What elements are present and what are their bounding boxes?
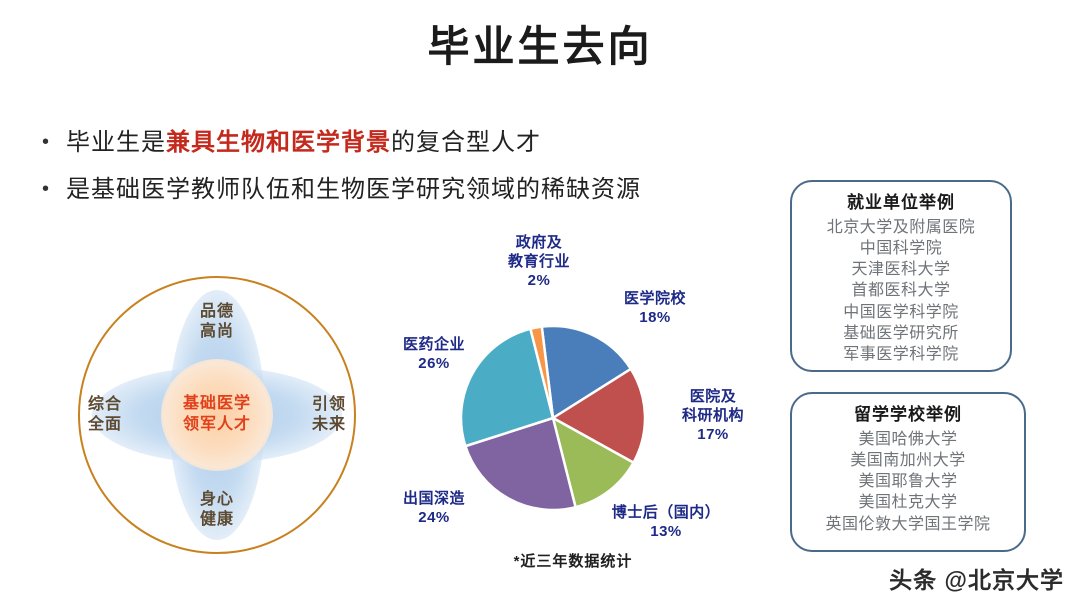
bullet-marker: • [40, 171, 52, 207]
list-item: 美国哈佛大学 [802, 429, 1014, 450]
info-box-title: 就业单位举例 [802, 190, 1000, 216]
pie-chart: 政府及 教育行业 2% 医学院校 18% 医院及 科研机构 17% 博士后（国内… [378, 232, 768, 577]
info-box-employers: 就业单位举例 北京大学及附属医院 中国科学院 天津医科大学 首都医科大学 中国医… [790, 180, 1012, 372]
pie-label-pharma: 医药企业 26% [380, 336, 488, 374]
list-item: • 毕业生是兼具生物和医学背景的复合型人才 [40, 124, 760, 161]
pie-label-percent: 18% [600, 309, 710, 328]
pie-label-postdoc: 博士后（国内） 13% [600, 504, 732, 542]
petal-label-left: 综合 全面 [88, 395, 122, 435]
list-item: 基础医学研究所 [802, 323, 1000, 344]
pie-label-line1: 出国深造 [403, 490, 465, 507]
pie-label-line2: 科研机构 [682, 407, 744, 424]
petal-center-line1: 基础医学 [183, 394, 251, 415]
bullet-text: 是基础医学教师队伍和生物医学研究领域的稀缺资源 [66, 171, 760, 208]
petal-label-right-line2: 未来 [312, 415, 346, 435]
petal-label-top-line1: 品德 [200, 302, 234, 322]
petal-label-bottom: 身心 健康 [200, 490, 234, 530]
petal-label-bottom-line1: 身心 [200, 490, 234, 510]
pie-label-line1: 医院及 [690, 388, 737, 405]
pie-label-percent: 26% [380, 355, 488, 374]
petal-center-line2: 领军人才 [183, 415, 251, 436]
pie-slice-group [461, 326, 645, 510]
bullet-text-post: 的复合型人才 [391, 129, 541, 156]
info-box-overseas-schools: 留学学校举例 美国哈佛大学 美国南加州大学 美国耶鲁大学 美国杜克大学 英国伦敦… [790, 392, 1026, 552]
list-item: 美国杜克大学 [802, 492, 1014, 513]
bullet-text: 毕业生是兼具生物和医学背景的复合型人才 [66, 124, 760, 161]
page-title: 毕业生去向 [0, 22, 1080, 72]
pie-label-line1: 医药企业 [403, 336, 465, 353]
petal-label-bottom-line2: 健康 [200, 510, 234, 530]
pie-label-government: 政府及 教育行业 2% [484, 234, 594, 290]
petal-label-right-line1: 引领 [312, 395, 346, 415]
petal-label-top-line2: 高尚 [200, 322, 234, 342]
list-item: 北京大学及附属医院 [802, 217, 1000, 238]
pie-label-percent: 24% [380, 509, 488, 528]
petal-label-top: 品德 高尚 [200, 302, 234, 342]
bullet-list: • 毕业生是兼具生物和医学背景的复合型人才 • 是基础医学教师队伍和生物医学研究… [40, 124, 760, 218]
list-item: 天津医科大学 [802, 259, 1000, 280]
pie-label-medical-schools: 医学院校 18% [600, 290, 710, 328]
list-item: 首都医科大学 [802, 280, 1000, 301]
watermark: 头条 @北京大学 [889, 561, 1064, 595]
petal-label-right: 引领 未来 [312, 395, 346, 435]
list-item: 军事医学科学院 [802, 344, 1000, 365]
chart-footnote: *近三年数据统计 [378, 550, 768, 571]
pie-label-line2: 教育行业 [508, 253, 570, 270]
list-item: 中国科学院 [802, 238, 1000, 259]
petal-label-left-line2: 全面 [88, 415, 122, 435]
bullet-text-highlight: 兼具生物和医学背景 [166, 129, 391, 156]
pie-label-percent: 13% [600, 523, 732, 542]
bullet-text-pre: 是基础医学教师队伍和生物医学研究领域的稀缺资源 [66, 176, 641, 203]
bullet-text-pre: 毕业生是 [66, 129, 166, 156]
petal-center-label: 基础医学 领军人才 [183, 394, 251, 436]
list-item: 美国南加州大学 [802, 450, 1014, 471]
list-item: 中国医学科学院 [802, 302, 1000, 323]
bullet-marker: • [40, 124, 52, 160]
petal-diagram: 品德 高尚 综合 全面 引领 未来 身心 健康 基础医学 领军人才 [78, 276, 356, 554]
petal-label-left-line1: 综合 [88, 395, 122, 415]
slide-root: 毕业生去向 • 毕业生是兼具生物和医学背景的复合型人才 • 是基础医学教师队伍和… [0, 0, 1080, 603]
pie-label-hospitals: 医院及 科研机构 17% [660, 388, 766, 444]
info-box-title: 留学学校举例 [802, 402, 1014, 428]
pie-label-percent: 17% [660, 426, 766, 445]
list-item: 英国伦敦大学国王学院 [802, 514, 1014, 535]
list-item: 美国耶鲁大学 [802, 471, 1014, 492]
pie-label-overseas: 出国深造 24% [380, 490, 488, 528]
pie-label-line1: 医学院校 [624, 290, 686, 307]
pie-label-line1: 政府及 [516, 234, 563, 251]
list-item: • 是基础医学教师队伍和生物医学研究领域的稀缺资源 [40, 171, 760, 208]
pie-label-line1: 博士后（国内） [612, 504, 721, 521]
pie-label-percent: 2% [484, 272, 594, 291]
